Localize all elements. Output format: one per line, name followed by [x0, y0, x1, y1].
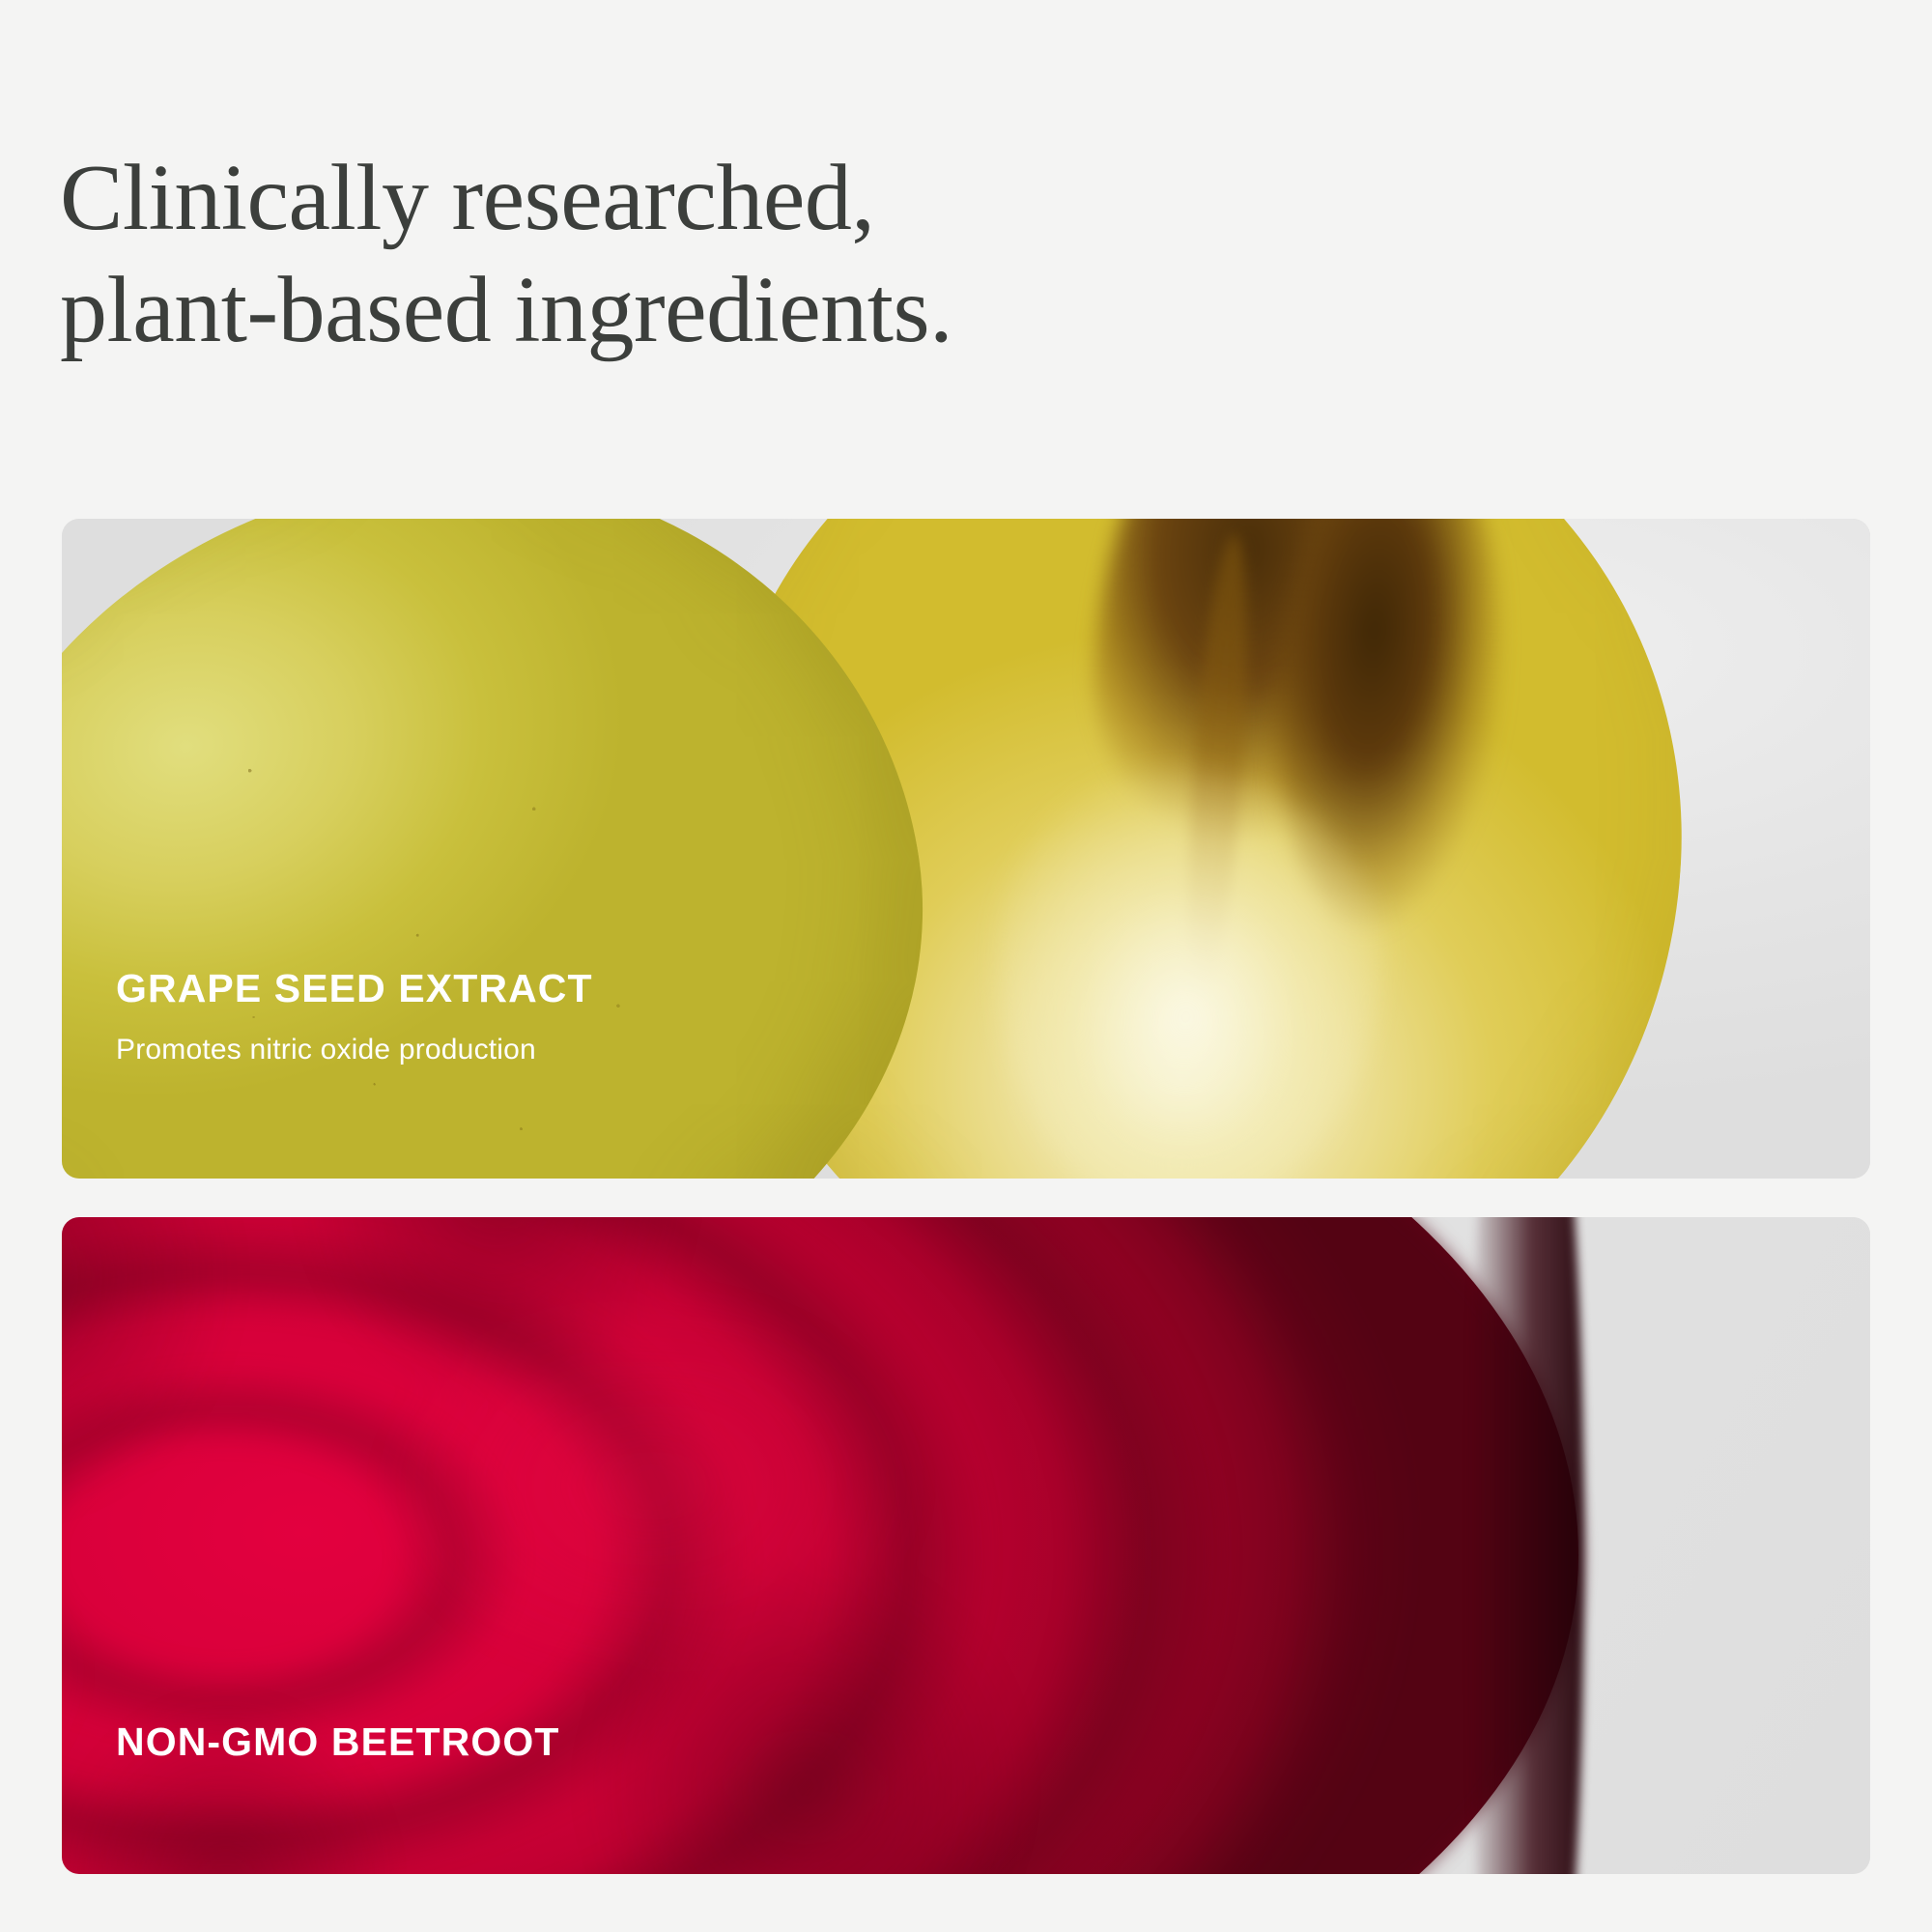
beetroot-slice-illustration: [62, 1217, 1578, 1874]
headline-line-1: Clinically researched,: [60, 143, 1509, 255]
ingredient-card-grape-seed-extract[interactable]: GRAPE SEED EXTRACT Promotes nitric oxide…: [62, 519, 1870, 1179]
ingredient-title: GRAPE SEED EXTRACT: [116, 967, 593, 1010]
ingredient-title: NON-GMO BEETROOT: [116, 1720, 559, 1764]
grape-card-caption: GRAPE SEED EXTRACT Promotes nitric oxide…: [116, 967, 593, 1066]
beetroot-texture: [62, 1217, 1578, 1874]
grape-seed-extract-image: [62, 519, 1870, 1179]
ingredient-subtitle: Promotes nitric oxide production: [116, 1034, 593, 1066]
page-headline: Clinically researched, plant-based ingre…: [60, 143, 1509, 366]
beetroot-skin-rim: [1468, 1217, 1584, 1874]
headline-line-2: plant-based ingredients.: [60, 255, 1509, 367]
non-gmo-beetroot-image: [62, 1217, 1870, 1874]
ingredient-card-non-gmo-beetroot[interactable]: NON-GMO BEETROOT: [62, 1217, 1870, 1874]
beet-card-caption: NON-GMO BEETROOT: [116, 1720, 559, 1764]
ingredients-promo-page: Clinically researched, plant-based ingre…: [0, 0, 1932, 1932]
